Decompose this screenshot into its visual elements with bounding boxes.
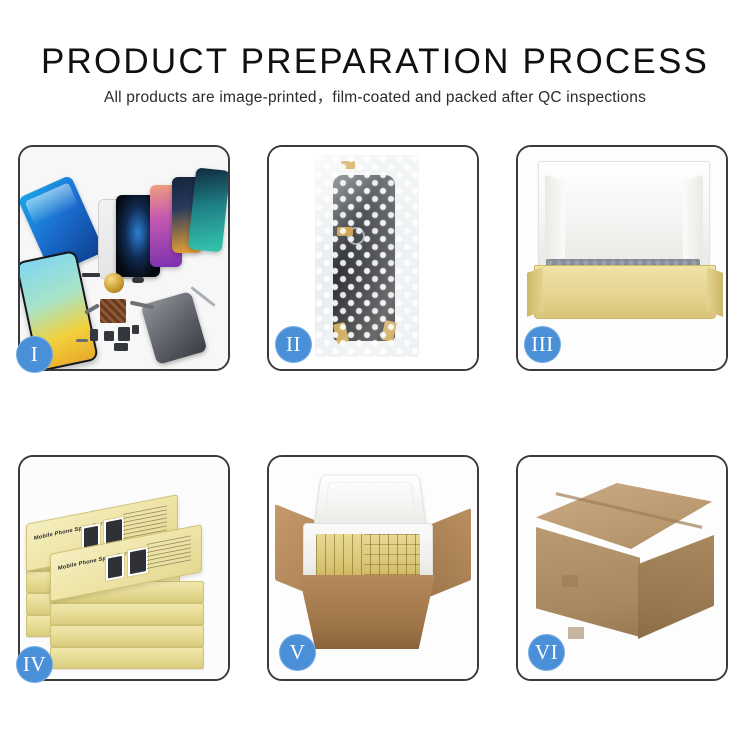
- small-part: [90, 329, 98, 341]
- phone-back-housing: [140, 291, 207, 365]
- step-panel-4[interactable]: Mobile Phone Spare Parts Mobile Phone Sp…: [18, 455, 230, 681]
- small-part: [132, 277, 144, 283]
- gold-component-icon: [104, 273, 124, 293]
- small-part: [82, 273, 100, 277]
- kraft-box-tray: [534, 265, 716, 319]
- step-panel-2[interactable]: II: [267, 145, 479, 371]
- tape-patch: [568, 627, 584, 639]
- step-badge-1: I: [16, 336, 53, 373]
- box-spec-lines: [147, 535, 191, 570]
- stacked-box: [50, 603, 204, 625]
- step-panel-1[interactable]: I: [18, 145, 230, 371]
- small-part: [114, 343, 128, 351]
- step-badge-2: II: [275, 326, 312, 363]
- phone-parts-scene: [20, 147, 228, 369]
- flex-cable: [76, 339, 88, 342]
- stacked-boxes-scene: Mobile Phone Spare Parts Mobile Phone Sp…: [20, 457, 228, 679]
- step-panel-5[interactable]: V: [267, 455, 479, 681]
- plastic-sheen: [315, 155, 419, 357]
- lid-left-face: [545, 175, 565, 267]
- carton-body: [299, 575, 435, 649]
- bubble-wrap-bag: [315, 155, 419, 357]
- small-part: [118, 327, 130, 341]
- tray-right-flap: [707, 267, 723, 317]
- product-preparation-infographic: PRODUCT PREPARATION PROCESS All products…: [0, 0, 750, 750]
- step-badge-5: V: [279, 634, 316, 671]
- tray-left-flap: [527, 267, 543, 317]
- step-panel-6[interactable]: VI: [516, 455, 728, 681]
- carton-side-face: [638, 535, 714, 639]
- stacked-box: [50, 647, 204, 669]
- step-panel-3[interactable]: III: [516, 145, 728, 371]
- white-foam-lid: [538, 161, 710, 271]
- box-window: [127, 546, 149, 578]
- process-steps-grid: I II: [0, 0, 750, 750]
- step-badge-4: IV: [16, 646, 53, 683]
- logic-board-chip: [100, 299, 126, 323]
- yellow-boxes-inside: [316, 534, 420, 578]
- step-1-image: [20, 147, 228, 369]
- box-window: [105, 552, 125, 582]
- small-part: [132, 325, 139, 334]
- lid-right-face: [683, 175, 703, 267]
- step-badge-3: III: [524, 326, 561, 363]
- stacked-box: [50, 625, 204, 647]
- step-badge-6: VI: [528, 634, 565, 671]
- tape-patch: [562, 575, 578, 587]
- step-4-image: Mobile Phone Spare Parts Mobile Phone Sp…: [20, 457, 228, 679]
- small-part: [104, 331, 114, 341]
